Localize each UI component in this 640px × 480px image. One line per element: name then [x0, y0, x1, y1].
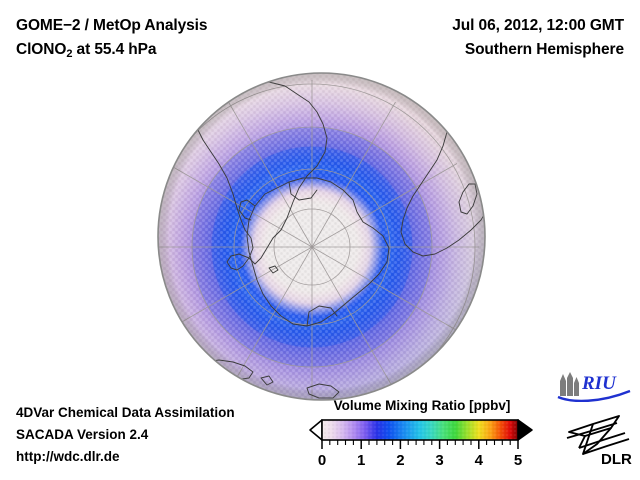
- coastline-african-horn: [457, 116, 483, 136]
- colorbar-svg: 0 1 2 3 4 5: [306, 418, 538, 470]
- dlr-mark-icon: [567, 416, 629, 454]
- pressure-level-label: at 55.4 hPa: [72, 41, 156, 58]
- colorbar-tick-label-2: 2: [396, 452, 404, 469]
- polar-map: [157, 72, 486, 401]
- colorbar-tick-label-0: 0: [318, 452, 326, 469]
- colorbar-tick-label-3: 3: [435, 452, 443, 469]
- header-left: GOME−2 / MetOp Analysis ClONO2 at 55.4 h…: [16, 14, 207, 66]
- footer-url-link[interactable]: http://wdc.dlr.de: [16, 446, 235, 468]
- species-pressure-label: ClONO2 at 55.4 hPa: [16, 38, 207, 66]
- footer-credits: 4DVar Chemical Data Assimilation SACADA …: [16, 402, 235, 468]
- timestamp-label: Jul 06, 2012, 12:00 GMT: [452, 14, 624, 38]
- colorbar-title: Volume Mixing Ratio [ppbv]: [306, 398, 538, 413]
- riu-logo-text: RIU: [581, 373, 617, 394]
- polar-map-svg: [157, 72, 486, 401]
- riu-tower-icon: [560, 372, 579, 396]
- footer-version-label: SACADA Version 2.4: [16, 424, 235, 446]
- colorbar: Volume Mixing Ratio [ppbv]: [306, 398, 538, 470]
- hemisphere-label: Southern Hemisphere: [452, 38, 624, 62]
- dlr-logo: DLR: [563, 414, 633, 468]
- riu-logo: RIU: [556, 372, 632, 402]
- dlr-logo-text: DLR: [601, 451, 632, 468]
- colorbar-tick-label-5: 5: [514, 452, 522, 469]
- colorbar-ticks: [322, 440, 518, 449]
- header: GOME−2 / MetOp Analysis ClONO2 at 55.4 h…: [0, 0, 640, 70]
- colorbar-gradient-texture: [322, 420, 518, 440]
- header-right: Jul 06, 2012, 12:00 GMT Southern Hemisph…: [452, 14, 624, 62]
- colorbar-tick-label-4: 4: [475, 452, 484, 469]
- page-title: GOME−2 / MetOp Analysis: [16, 14, 207, 38]
- colorbar-left-arrow: [310, 420, 322, 440]
- colorbar-right-arrow: [518, 420, 532, 440]
- limb-shading: [158, 73, 486, 401]
- species-label: ClONO: [16, 41, 66, 58]
- footer-method-label: 4DVar Chemical Data Assimilation: [16, 402, 235, 424]
- colorbar-tick-label-1: 1: [357, 452, 365, 469]
